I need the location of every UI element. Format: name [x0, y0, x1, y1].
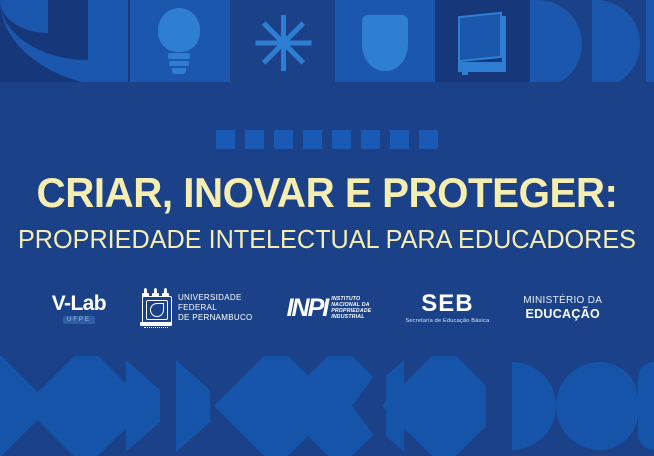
vlab-subtext: UFPE	[63, 316, 95, 324]
half-circle-icon	[646, 0, 654, 88]
pattern-half-circle	[512, 362, 556, 450]
asterisk-star-icon	[255, 15, 311, 71]
vlab-wordmark: V-Lab	[52, 293, 106, 314]
square-dot	[274, 130, 293, 149]
logo-mec: MINISTÉRIO DA EDUCAÇÃO	[523, 295, 602, 321]
pattern-half-circle	[600, 362, 638, 450]
square-dot	[245, 130, 264, 149]
logo-inpi: INPI INSTITUTO NACIONAL DA PROPRIEDADE I…	[287, 296, 372, 321]
ufpe-crest-icon	[140, 288, 172, 328]
shield-icon	[362, 15, 408, 71]
bottom-decorative-pattern	[0, 356, 654, 456]
title-block: CRIAR, INOVAR E PROTEGER: PROPRIEDADE IN…	[0, 172, 654, 252]
square-dot	[332, 130, 351, 149]
seb-subtext: Secretaria de Educação Básica	[405, 318, 489, 324]
mec-line-1: MINISTÉRIO DA	[523, 295, 602, 307]
ufpe-line-1: UNIVERSIDADE	[178, 293, 253, 303]
pattern-half-circle	[638, 362, 654, 450]
pattern-half-circle	[556, 362, 600, 450]
page-subtitle: PROPRIEDADE INTELECTUAL PARA EDUCADORES	[10, 226, 644, 252]
square-dot	[419, 130, 438, 149]
inpi-wordmark: INPI	[287, 296, 328, 321]
event-banner: CRIAR, INOVAR E PROTEGER: PROPRIEDADE IN…	[0, 0, 654, 456]
page-title: CRIAR, INOVAR E PROTEGER:	[13, 172, 641, 214]
square-dot	[303, 130, 322, 149]
ufpe-line-3: DE PERNAMBUCO	[178, 313, 253, 323]
logo-ufpe: UNIVERSIDADE FEDERAL DE PERNAMBUCO	[140, 288, 253, 328]
logo-seb: SEB Secretaria de Educação Básica	[405, 292, 489, 324]
inpi-line-4: INDUSTRIAL	[331, 314, 371, 320]
mec-line-2: EDUCAÇÃO	[525, 307, 600, 321]
logo-row: V-Lab UFPE UNIVERSIDADE FEDERAL DE PERNA…	[0, 283, 654, 333]
lightbulb-icon	[158, 8, 200, 74]
square-dot	[216, 130, 235, 149]
concentric-arcs-icon	[0, 0, 150, 88]
logo-vlab: V-Lab UFPE	[52, 293, 106, 324]
seb-wordmark: SEB	[421, 292, 473, 316]
band-baseline	[0, 82, 654, 88]
square-dot	[361, 130, 380, 149]
top-icon-band	[0, 0, 654, 88]
decorative-squares-row	[0, 130, 654, 149]
book-icon	[458, 14, 506, 72]
square-dot	[390, 130, 409, 149]
ufpe-line-2: FEDERAL	[178, 303, 253, 313]
